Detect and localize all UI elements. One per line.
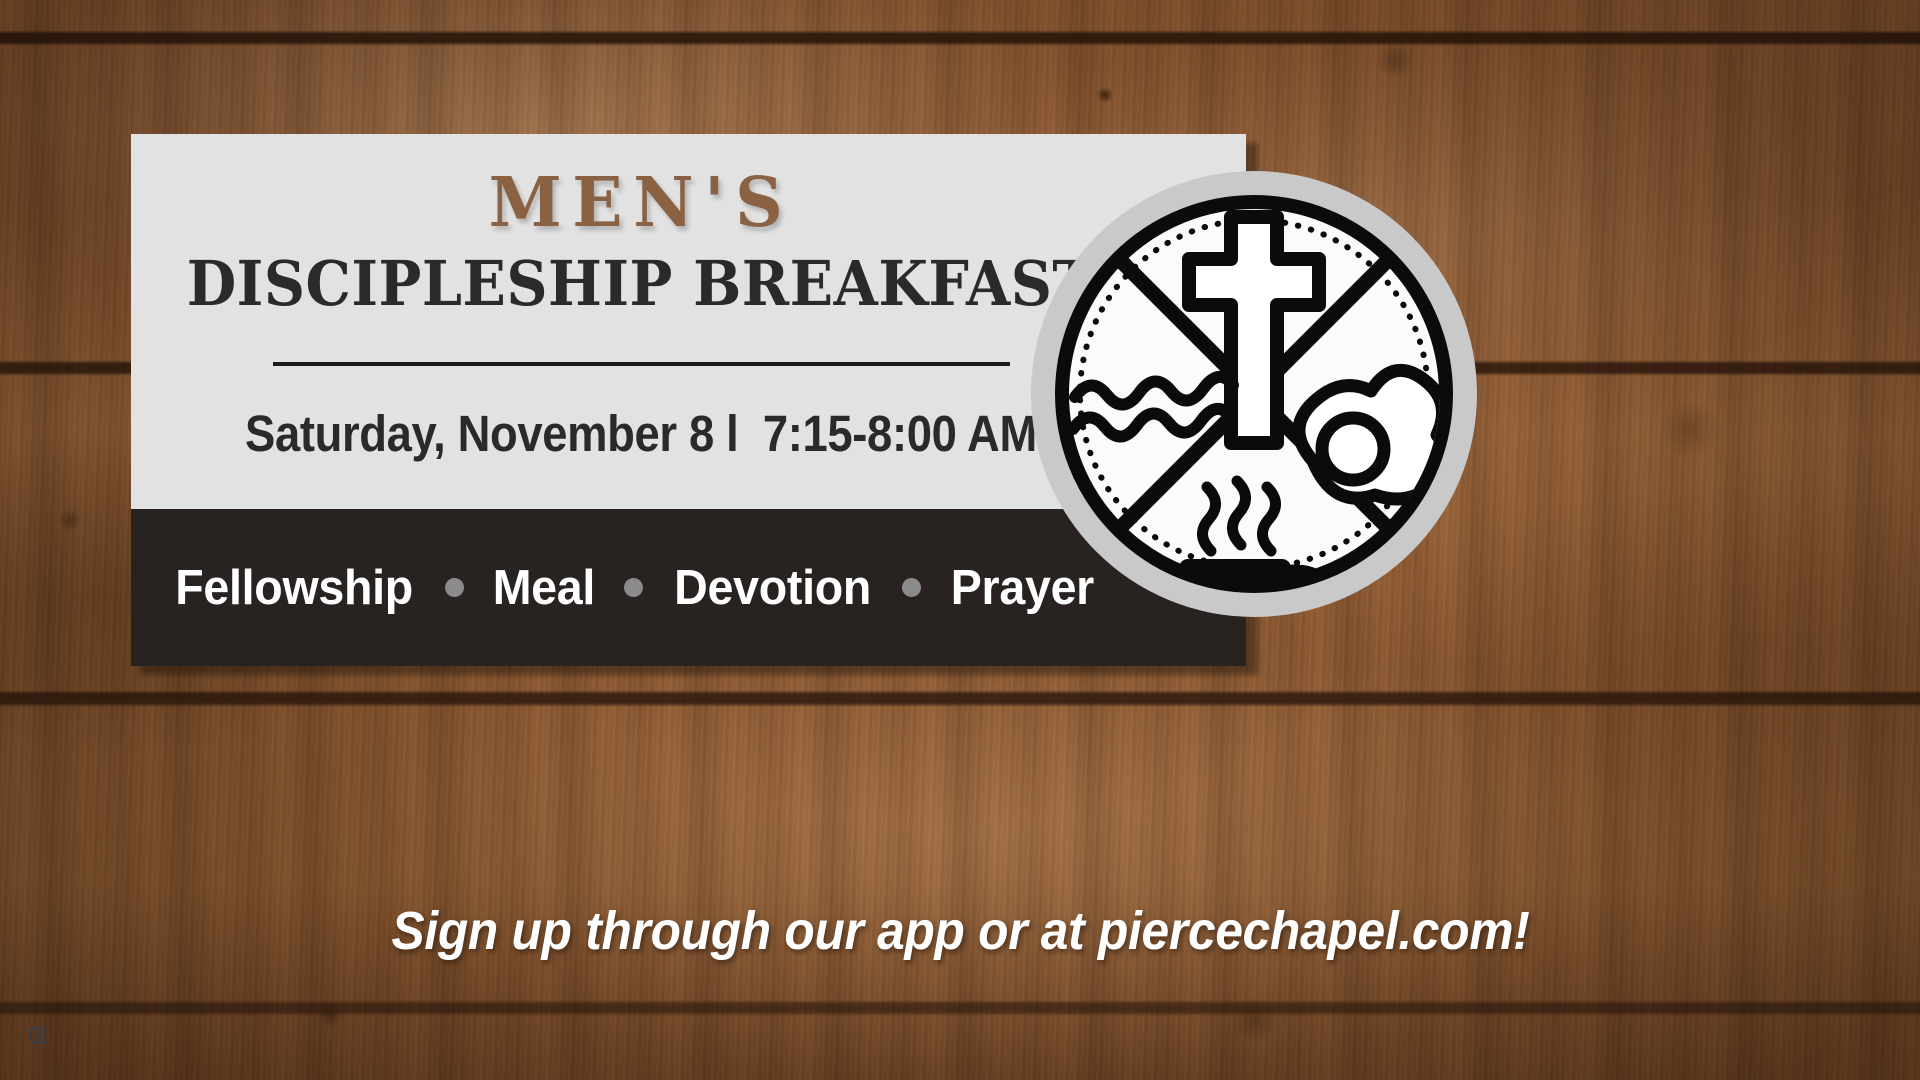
footer-block: Sign up through our app or at piercechap… [0, 900, 1920, 962]
bullet-dot-icon [624, 578, 643, 597]
slide-canvas: MEN'S DISCIPLESHIP BREAKFAST Saturday, N… [0, 0, 1920, 1080]
event-datetime: Saturday, November 8 l 7:15-8:00 AM [187, 404, 1095, 463]
bullet-dot-icon [445, 578, 464, 597]
slide-number-watermark: 01 [29, 1022, 48, 1051]
bullet-dot-icon [902, 578, 921, 597]
feature-list: Fellowship Meal Devotion Prayer [169, 509, 1129, 666]
feature-item-fellowship: Fellowship [175, 560, 413, 616]
feature-item-meal: Meal [493, 560, 595, 616]
signup-call-to-action: Sign up through our app or at piercechap… [391, 900, 1529, 962]
title-divider-rule [273, 362, 1010, 366]
feature-item-devotion: Devotion [674, 560, 871, 616]
mens-breakfast-badge [1031, 161, 1477, 627]
page-title-secondary: DISCIPLESHIP BREAKFAST [172, 253, 1110, 315]
headline-block: MEN'S DISCIPLESHIP BREAKFAST Saturday, N… [131, 134, 1151, 463]
page-title-primary: MEN'S [146, 169, 1135, 237]
